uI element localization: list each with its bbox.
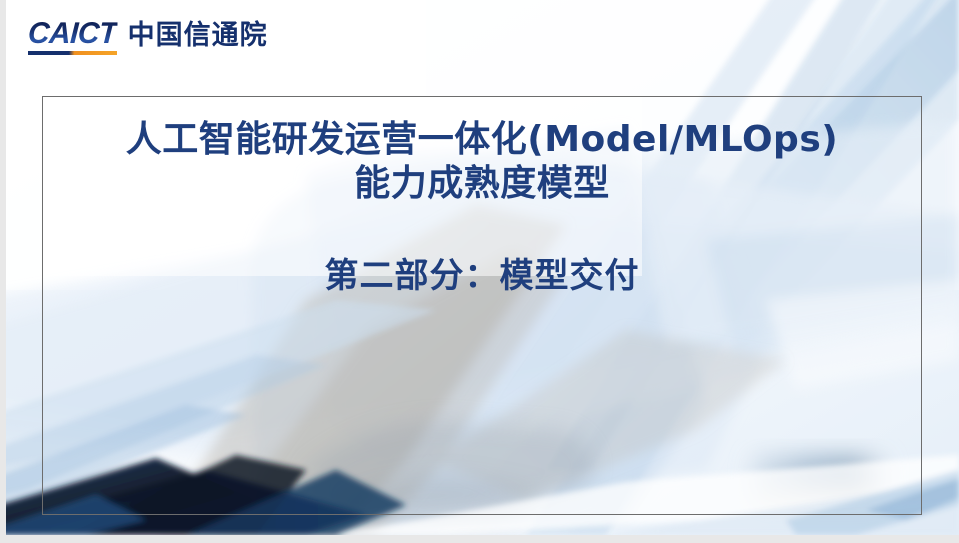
caict-logo: CAICT 中国信通院	[28, 19, 268, 55]
slide-text-block: 人工智能研发运营一体化(Model/MLOps) 能力成熟度模型 第二部分：模型…	[42, 118, 922, 298]
page-title-line-1: 人工智能研发运营一体化(Model/MLOps)	[42, 118, 922, 162]
logo-chinese-name: 中国信通院	[128, 21, 268, 55]
page-subtitle: 第二部分：模型交付	[42, 254, 922, 298]
logo-acronym: CAICT	[27, 19, 117, 49]
slide-viewer: CAICT 中国信通院 人工智能研发运营一体化(Model/MLOps) 能力成…	[0, 0, 959, 543]
logo-mark: CAICT	[28, 19, 117, 55]
page-title-line-2: 能力成熟度模型	[42, 162, 922, 206]
logo-underline-bar	[28, 51, 117, 55]
slide-canvas: CAICT 中国信通院 人工智能研发运营一体化(Model/MLOps) 能力成…	[6, 0, 959, 535]
